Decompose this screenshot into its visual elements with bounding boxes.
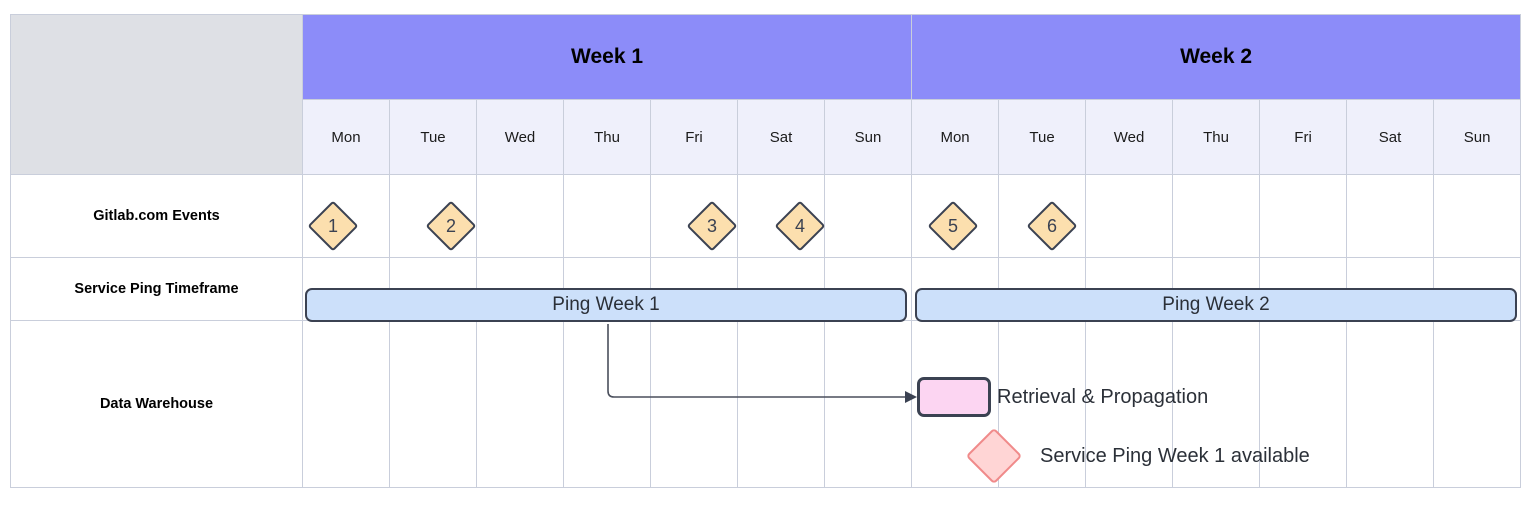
table-row-events: Gitlab.com Events: [11, 175, 1521, 258]
cell-dwh-w2-sun: [1434, 321, 1521, 488]
cell-ping-w2-fri: [1260, 258, 1347, 321]
cell-dwh-w1-mon: [303, 321, 390, 488]
cell-events-w2-wed: [1086, 175, 1173, 258]
day-header-w2-tue: Tue: [999, 100, 1086, 175]
day-header-w1-wed: Wed: [477, 100, 564, 175]
cell-dwh-w2-wed: [1086, 321, 1173, 488]
cell-ping-w1-wed: [477, 258, 564, 321]
cell-events-w2-fri: [1260, 175, 1347, 258]
cell-ping-w1-thu: [564, 258, 651, 321]
cell-events-w2-sat: [1347, 175, 1434, 258]
cell-dwh-w2-tue: [999, 321, 1086, 488]
day-header-w1-sat: Sat: [738, 100, 825, 175]
cell-dwh-w2-fri: [1260, 321, 1347, 488]
day-header-w1-thu: Thu: [564, 100, 651, 175]
cell-ping-w2-wed: [1086, 258, 1173, 321]
cell-dwh-w1-wed: [477, 321, 564, 488]
cell-dwh-w1-thu: [564, 321, 651, 488]
day-header-w2-thu: Thu: [1173, 100, 1260, 175]
week-header-row: Week 1 Week 2: [11, 15, 1521, 100]
cell-dwh-w1-sun: [825, 321, 912, 488]
day-header-w1-tue: Tue: [390, 100, 477, 175]
cell-ping-w1-sun: [825, 258, 912, 321]
day-header-w2-sat: Sat: [1347, 100, 1434, 175]
cell-events-w1-sun: [825, 175, 912, 258]
cell-events-w2-mon: [912, 175, 999, 258]
cell-dwh-w1-tue: [390, 321, 477, 488]
cell-events-w1-tue: [390, 175, 477, 258]
cell-events-w1-thu: [564, 175, 651, 258]
table-row-data-warehouse: Data Warehouse: [11, 321, 1521, 488]
cell-events-w1-fri: [651, 175, 738, 258]
table-row-service-ping: Service Ping Timeframe: [11, 258, 1521, 321]
cell-events-w2-tue: [999, 175, 1086, 258]
cell-ping-w1-sat: [738, 258, 825, 321]
cell-ping-w2-sun: [1434, 258, 1521, 321]
day-header-w2-mon: Mon: [912, 100, 999, 175]
cell-ping-w2-mon: [912, 258, 999, 321]
cell-dwh-w1-fri: [651, 321, 738, 488]
cell-ping-w1-fri: [651, 258, 738, 321]
day-header-w2-wed: Wed: [1086, 100, 1173, 175]
cell-dwh-w2-mon: [912, 321, 999, 488]
cell-ping-w2-sat: [1347, 258, 1434, 321]
cell-events-w2-thu: [1173, 175, 1260, 258]
day-header-w2-sun: Sun: [1434, 100, 1521, 175]
cell-ping-w2-tue: [999, 258, 1086, 321]
cell-ping-w1-tue: [390, 258, 477, 321]
day-header-w2-fri: Fri: [1260, 100, 1347, 175]
week-header-week-1: Week 1: [303, 15, 912, 100]
cell-events-w2-sun: [1434, 175, 1521, 258]
cell-ping-w2-thu: [1173, 258, 1260, 321]
week-header-week-2: Week 2: [912, 15, 1521, 100]
cell-events-w1-sat: [738, 175, 825, 258]
cell-events-w1-wed: [477, 175, 564, 258]
cell-ping-w1-mon: [303, 258, 390, 321]
grid-corner-cell: [11, 15, 303, 175]
day-header-w1-mon: Mon: [303, 100, 390, 175]
cell-dwh-w1-sat: [738, 321, 825, 488]
cell-dwh-w2-sat: [1347, 321, 1434, 488]
row-label-gitlab-events: Gitlab.com Events: [11, 175, 303, 258]
row-label-service-ping-timeframe: Service Ping Timeframe: [11, 258, 303, 321]
day-header-w1-fri: Fri: [651, 100, 738, 175]
day-header-w1-sun: Sun: [825, 100, 912, 175]
gantt-grid: Week 1 Week 2 Mon Tue Wed Thu Fri Sat Su…: [10, 14, 1521, 488]
row-label-data-warehouse: Data Warehouse: [11, 321, 303, 488]
cell-dwh-w2-thu: [1173, 321, 1260, 488]
cell-events-w1-mon: [303, 175, 390, 258]
gantt-diagram: Week 1 Week 2 Mon Tue Wed Thu Fri Sat Su…: [0, 0, 1530, 506]
